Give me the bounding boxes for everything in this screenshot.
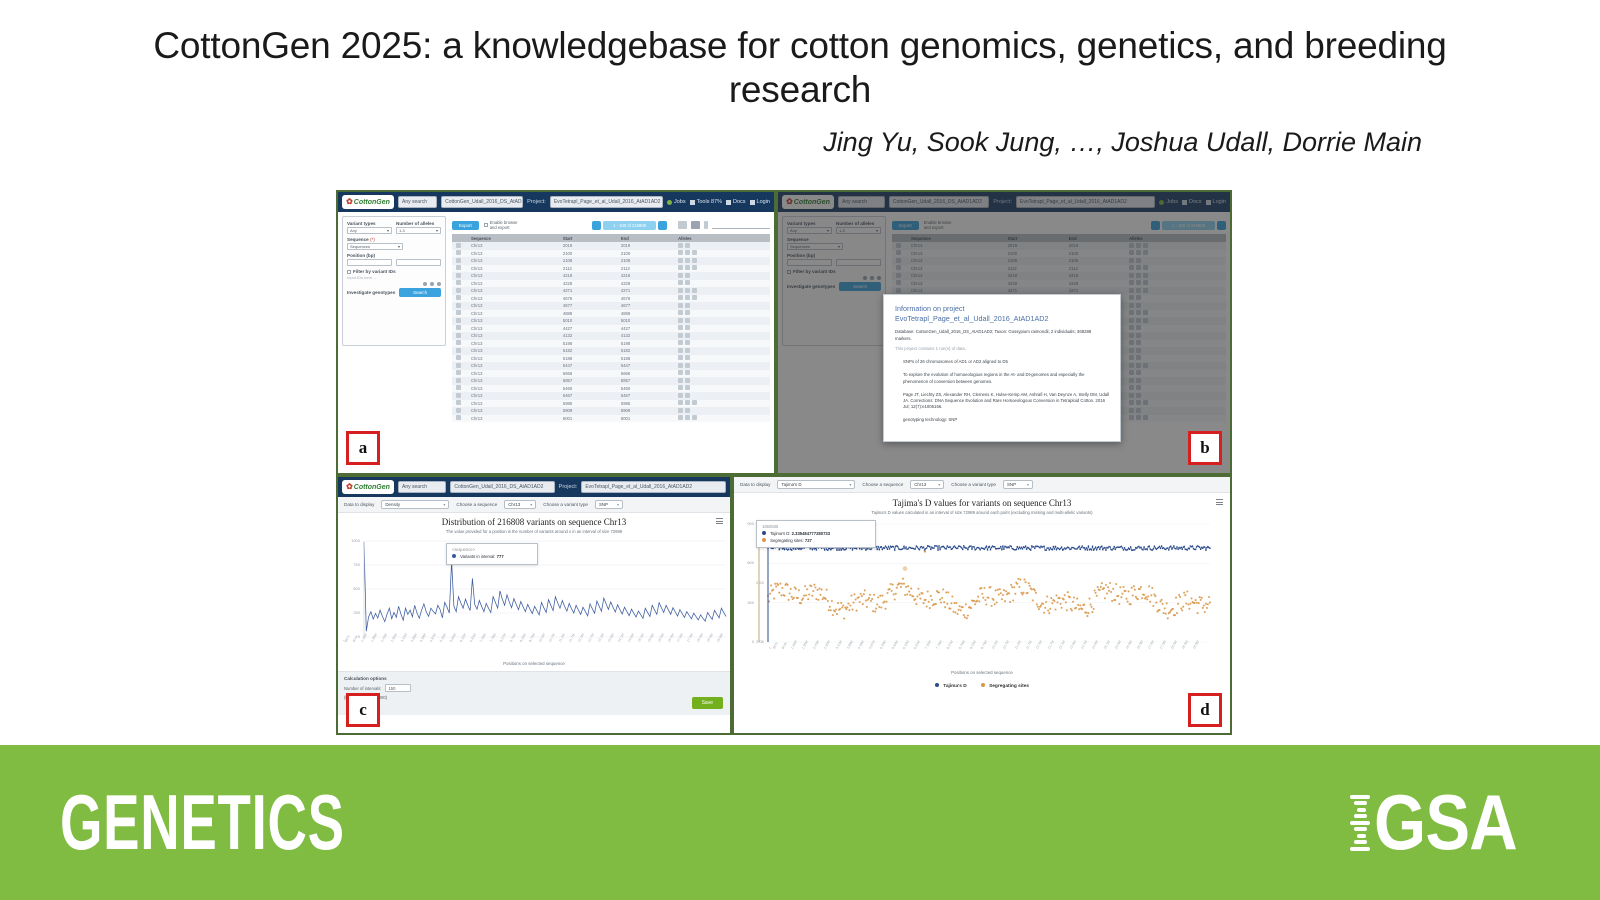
cell-2: 2100 [617,250,674,258]
cell-1: 2112 [559,265,617,273]
cell-2: 5010 [617,317,674,325]
table-row[interactable]: Chr1321002100 [452,250,770,258]
dataset-select[interactable]: CottonGen_Udall_2016_DS_AtAD1AD2 [441,196,523,208]
modal-meta: Database: CottonGen_Udall_2016_DS_AtAD1A… [895,329,1109,341]
cell-0: Chr13 [467,332,559,340]
num-alleles-label: Number of alleles [396,221,441,226]
table-row[interactable]: Chr1320192019 [452,242,770,250]
d-sequence-select[interactable]: Chr13▾ [910,480,944,489]
enable-browse-label: Enable browse and export [490,220,518,231]
table-row[interactable]: Chr1360016001 [452,415,770,423]
col-end[interactable]: End [617,234,674,242]
chart-d-xaxis: 1487k974k1.46M1.95M2.43M2.92M3.41M3.89M4… [734,648,1230,652]
journal-footer-band: GENETICS GSA [0,745,1600,900]
d-select-1-label: Choose a sequence [862,482,903,487]
calc-options-title: Calculation options [344,676,724,681]
table-row[interactable]: Chr1342184218 [452,272,770,280]
cell-1: 5909 [559,407,617,415]
cell-1: 2019 [559,242,617,250]
table-row[interactable]: Chr1321122112 [452,265,770,273]
nav-link-docs[interactable]: Docs [726,199,746,205]
cell-2: 4228 [617,280,674,288]
cottongen-logo[interactable]: ✿ CottonGen [342,480,394,494]
cell-0: Chr13 [467,257,559,265]
panel-label-b: b [1188,431,1222,465]
page-title: CottonGen 2025: a knowledgebase for cott… [150,24,1450,113]
chart-menu-icon[interactable] [1216,498,1223,507]
save-button[interactable]: Save [692,697,723,709]
cell-2: 5198 [617,340,674,348]
required-marker: (*) [370,237,375,242]
cell-0: Chr13 [467,415,559,423]
cell-alleles [674,392,770,400]
cell-alleles [674,242,770,250]
variant-results: Export Enable browse and export 1 - 100 … [450,212,774,475]
chart-d-subtitle: Tajima's D values calculated in an inter… [734,510,1230,515]
pager: 1 - 100 of 216808 [592,221,667,230]
variant-table-body: Chr1320192019Chr1321002100Chr1321082108C… [452,242,770,422]
cell-alleles [674,355,770,363]
help-icon[interactable] [437,282,441,286]
row-check[interactable] [452,407,467,415]
cell-0: Chr13 [467,250,559,258]
cell-2: 4132 [617,332,674,340]
cell-1: 4132 [559,332,617,340]
d-select-0-label: Data to display [740,482,770,487]
calculation-options: Calculation options Number of intervals:… [338,671,730,715]
cell-alleles [674,340,770,348]
cotton-icon: ✿ [346,198,353,206]
modal-title: Information on project EvoTetrapl_Page_e… [895,304,1109,323]
row-check[interactable] [452,257,467,265]
cell-1: 2100 [559,250,617,258]
table-row[interactable]: Chr1351885188 [452,355,770,363]
row-check[interactable] [452,370,467,378]
cell-alleles [674,407,770,415]
cell-2: 4218 [617,272,674,280]
row-check[interactable] [452,355,467,363]
row-check[interactable] [452,377,467,385]
table-row[interactable]: Chr1350105010 [452,317,770,325]
journal-name: GENETICS [60,777,345,868]
cotton-icon: ✿ [346,483,353,491]
project-info-modal: Information on project EvoTetrapl_Page_e… [883,294,1121,442]
series-swatch-segsites [762,538,766,542]
cell-alleles [674,362,770,370]
cell-0: Chr13 [467,385,559,393]
project-value: EvoTetrapl_Page_et_al_Udall_2016_AtAD1AD… [554,199,661,205]
cell-0: Chr13 [467,272,559,280]
col-check [452,234,467,242]
chart-c-toolbar: Data to display Density▾ Choose a sequen… [338,497,730,513]
panel-label-c: c [346,693,380,727]
filter-ids-label: Filter by variant IDs [353,269,396,274]
cell-alleles [674,280,770,288]
modal-para2: To explore the evolution of homoeologous… [895,372,1109,384]
cell-1: 5198 [559,340,617,348]
lock-icon [484,223,488,227]
table-row[interactable]: Chr1346774677 [452,302,770,310]
cell-2: 5666 [617,370,674,378]
panel-b: ✿ CottonGen Any search CottonGen_Udall_2… [776,190,1232,475]
project-select[interactable]: EvoTetrapl_Page_et_al_Udall_2016_AtAD1AD… [581,481,726,493]
any-search-select[interactable]: Any search [398,481,446,493]
logo-text: CottonGen [354,199,390,206]
cell-0: Chr13 [467,325,559,333]
cell-1: 5447 [559,362,617,370]
cell-2: 4888 [617,310,674,318]
dataset-value: CottonGen_Udall_2016_DS_AtAD1AD2 [445,199,523,205]
cell-alleles [674,385,770,393]
cell-2: 5188 [617,355,674,363]
cell-2: 4427 [617,325,674,333]
table-row[interactable]: Chr1342714271 [452,287,770,295]
position-label: Position (bp) [347,253,441,258]
user-icon [750,200,755,205]
row-check[interactable] [452,265,467,273]
chart-menu-icon[interactable] [716,517,723,526]
pager-prev-button[interactable] [592,221,601,230]
panel-label-d: d [1188,693,1222,727]
gsa-logo: GSA [1350,777,1540,868]
table-row[interactable]: Chr1348884888 [452,310,770,318]
col-start[interactable]: Start [559,234,617,242]
project-label: Project: [559,484,578,490]
c-variant-type-select[interactable]: SNP▾ [595,500,623,509]
c-select-0-label: Data to display [344,502,374,507]
cell-2: 5857 [617,377,674,385]
table-row[interactable]: Chr1351985198 [452,340,770,348]
row-check[interactable] [452,280,467,288]
cell-0: Chr13 [467,280,559,288]
legend-item-tajima[interactable]: Tajima's D [935,683,967,689]
cell-1: 4218 [559,272,617,280]
modal-citation: Page JT, Liechty ZS, Alexander RH, Cleme… [895,392,1109,411]
chevron-down-icon: ▾ [617,502,619,507]
filter-ids-checkbox[interactable]: Filter by variant IDs [347,269,441,274]
chevron-down-icon: ▾ [1027,482,1029,487]
cell-alleles [674,272,770,280]
pager-range: 1 - 100 of 216808 [603,221,656,230]
c-sequence-select[interactable]: Chr13▾ [504,500,536,509]
panel-a-body: Variant types Any▾ Number of alleles 1-3… [338,212,774,475]
cell-2: 4676 [617,295,674,303]
nav-link-jobs[interactable]: Jobs [667,199,686,205]
cell-1: 6001 [559,415,617,423]
num-alleles-select[interactable]: 1-3▾ [396,227,441,234]
chart-icon[interactable] [678,221,687,229]
nav-link-login[interactable]: Login [750,199,770,205]
tooltip-row: Variants in interval: 777 [452,554,532,560]
cell-0: Chr13 [467,392,559,400]
chart-c-xlabel: Positions on selected sequence [338,661,730,666]
cell-alleles [674,370,770,378]
project-label: Project: [527,199,546,205]
col-alleles[interactable]: Alleles [674,234,770,242]
col-sequence[interactable]: Sequence [467,234,559,242]
tooltip-row-segsites: Segregating sites: 727 [762,538,870,544]
table-row[interactable]: Chr1341324132 [452,332,770,340]
cell-1: 4677 [559,302,617,310]
table-row[interactable]: Chr1344274427 [452,325,770,333]
cell-1: 5666 [559,370,617,378]
row-check[interactable] [452,340,467,348]
row-check[interactable] [452,287,467,295]
row-check[interactable] [452,302,467,310]
table-row[interactable]: Chr1346764676 [452,295,770,303]
panel-c: ✿ CottonGen Any search CottonGen_Udall_2… [336,475,732,735]
tools-icon [690,200,695,205]
d-data-to-display-select[interactable]: Tajima's D▾ [777,480,855,489]
c-data-to-display-select[interactable]: Density▾ [381,500,449,509]
any-search-select[interactable]: Any search [398,196,437,208]
row-check[interactable] [452,362,467,370]
cottongen-navbar-c: ✿ CottonGen Any search CottonGen_Udall_2… [338,477,730,497]
cell-0: Chr13 [467,302,559,310]
cell-1: 4271 [559,287,617,295]
row-check[interactable] [452,272,467,280]
sequence-select[interactable]: Sequences▾ [347,243,403,250]
c-select-2-label: Choose a variant type [543,502,588,507]
person-icon[interactable] [704,221,708,229]
chevron-down-icon: ▾ [530,502,532,507]
cell-alleles [674,295,770,303]
table-icon[interactable] [691,221,700,229]
cell-1: 5182 [559,347,617,355]
cell-0: Chr13 [467,400,559,408]
any-search-value: Any search [402,199,427,205]
table-row[interactable]: Chr1356665666 [452,370,770,378]
chevron-down-icon: ▾ [398,244,400,249]
cell-1: 4676 [559,295,617,303]
variant-types-label: Variant types [347,221,392,226]
cell-2: 5447 [617,362,674,370]
panel-label-a: a [346,431,380,465]
cell-1: 5467 [559,392,617,400]
search-button[interactable]: Search [399,288,441,297]
cell-2: 6001 [617,415,674,423]
chevron-down-icon: ▾ [938,482,940,487]
cell-alleles [674,317,770,325]
society-name: GSA [1374,777,1517,868]
figure-composite: ✿ CottonGen Any search CottonGen_Udall_2… [336,190,1232,735]
row-check[interactable] [452,385,467,393]
cell-2: 5985 [617,400,674,408]
table-row[interactable]: Chr1321082108 [452,257,770,265]
modal-para1: SNPs of 26 chromosomes of AD1 or AD2 ali… [895,359,1109,365]
cell-0: Chr13 [467,295,559,303]
legend-item-segsites[interactable]: Segregating sites [981,683,1029,689]
chart-c-tooltip: <sequence> Variants in interval: 777 [446,543,538,565]
row-check[interactable] [452,310,467,318]
cell-0: Chr13 [467,242,559,250]
cell-0: Chr13 [467,310,559,318]
table-row[interactable]: Chr1354605460 [452,385,770,393]
table-row[interactable]: Chr1358575857 [452,377,770,385]
toolbar-icons [678,221,770,229]
cell-alleles [674,377,770,385]
legend-dot-icon [981,683,985,687]
cottongen-logo[interactable]: ✿ CottonGen [342,195,394,209]
chart-c-title: Distribution of 216808 variants on seque… [338,517,730,527]
cell-1: 4427 [559,325,617,333]
row-check[interactable] [452,400,467,408]
cell-alleles [674,250,770,258]
modal-runs: This project contains 1 run(s) of data. [895,346,1109,352]
title-block: CottonGen 2025: a knowledgebase for cott… [0,0,1600,158]
chart-d-area: Tajima's D values for variants on sequen… [734,493,1230,693]
cell-1: 5985 [559,400,617,408]
legend-dot-icon [935,683,939,687]
chart-c-xaxis: 1487k974k1.46M1.95M2.43M2.92M3.41M3.89M4… [338,641,730,645]
cell-0: Chr13 [467,347,559,355]
c-select-1-label: Choose a sequence [456,502,497,507]
cell-0: Chr13 [467,370,559,378]
cell-alleles [674,347,770,355]
cell-1: 5460 [559,385,617,393]
form-icon-row [347,282,441,286]
investigate-label: Investigate genotypes [347,290,395,295]
cell-alleles [674,325,770,333]
export-button[interactable]: Export [452,221,479,230]
chart-d-xlabel: Positions on selected sequence [734,670,1230,675]
nav-link-tools[interactable]: Tools 87% [690,199,722,205]
cell-0: Chr13 [467,287,559,295]
num-alleles-field: Number of alleles 1-3▾ [396,221,441,234]
cell-0: Chr13 [467,377,559,385]
modal-title-line1: Information on project [895,304,1109,314]
upload-icon[interactable] [423,282,427,286]
series-swatch [452,554,456,558]
cell-0: Chr13 [467,407,559,415]
row-check[interactable] [452,250,467,258]
cell-1: 5188 [559,355,617,363]
cottongen-navbar: ✿ CottonGen Any search CottonGen_Udall_2… [338,192,774,212]
cell-0: Chr13 [467,265,559,273]
series-swatch-tajima [762,531,766,535]
table-row[interactable]: Chr1359095909 [452,407,770,415]
panel-d: Data to display Tajima's D▾ Choose a seq… [732,475,1232,735]
jobs-icon [667,200,672,205]
d-variant-type-select[interactable]: SNP▾ [1003,480,1033,489]
table-row[interactable]: Chr1359855985 [452,400,770,408]
row-check[interactable] [452,347,467,355]
cell-1: 4888 [559,310,617,318]
table-row[interactable]: Chr1354675467 [452,392,770,400]
d-select-2-label: Choose a variant type [951,482,996,487]
cell-1: 2108 [559,257,617,265]
cell-1: 5857 [559,377,617,385]
cell-alleles [674,265,770,273]
modal-tech: genotyping technology: SNP [895,417,1109,423]
dna-helix-icon [1350,795,1370,851]
dataset-select[interactable]: CottonGen_Udall_2016_DS_AtAD1AD2 [450,481,554,493]
position-from-input[interactable] [347,259,392,266]
author-list: Jing Yu, Sook Jung, …, Joshua Udall, Dor… [150,127,1450,158]
row-check[interactable] [452,317,467,325]
download-icon[interactable] [430,282,434,286]
cell-alleles [674,400,770,408]
intervals-input[interactable]: 150 [385,684,411,692]
chart-d-toolbar: Data to display Tajima's D▾ Choose a seq… [734,477,1230,493]
tooltip-head: 1650835 [762,524,870,530]
table-row[interactable]: Chr1351825182 [452,347,770,355]
results-toolbar: Export Enable browse and export 1 - 100 … [452,216,770,234]
sequence-label: Sequence (*) [347,237,441,242]
cell-alleles [674,332,770,340]
cell-0: Chr13 [467,317,559,325]
row-check[interactable] [452,242,467,250]
cell-2: 5467 [617,392,674,400]
row-check[interactable] [452,415,467,423]
cell-2: 5182 [617,347,674,355]
cell-alleles [674,257,770,265]
cell-2: 4677 [617,302,674,310]
row-check[interactable] [452,325,467,333]
variant-search-form: Variant types Any▾ Number of alleles 1-3… [342,216,446,346]
cell-2: 5909 [617,407,674,415]
cell-alleles [674,415,770,423]
chart-d-legend: Tajima's D Segregating sites [734,683,1230,689]
chevron-down-icon: ▾ [387,228,389,233]
pager-next-button[interactable] [658,221,667,230]
row-check[interactable] [452,295,467,303]
table-row[interactable]: Chr1354475447 [452,362,770,370]
row-check[interactable] [452,392,467,400]
chart-d-title: Tajima's D values for variants on sequen… [734,498,1230,508]
cell-2: 2112 [617,265,674,273]
cell-2: 4271 [617,287,674,295]
row-check[interactable] [452,332,467,340]
variant-types-field: Variant types Any▾ [347,221,392,234]
checkbox-icon [347,270,351,274]
position-to-input[interactable] [396,259,441,266]
chart-d-tooltip: 1650835 Tajima's D: 2.335484777280733 Se… [756,520,876,548]
cell-alleles [674,287,770,295]
cell-1: 5010 [559,317,617,325]
chevron-down-icon: ▾ [849,482,851,487]
intervals-label: Number of intervals: [344,686,381,691]
table-header-row: Sequence Start End Alleles [452,234,770,242]
cell-1: 4228 [559,280,617,288]
cell-alleles [674,310,770,318]
chart-c-area: Distribution of 216808 variants on seque… [338,513,730,671]
cell-2: 5460 [617,385,674,393]
filter-ids-input[interactable]: Input IDs here… [347,275,441,280]
search-input[interactable] [712,221,770,229]
chevron-down-icon: ▾ [436,228,438,233]
logo-text: CottonGen [354,484,390,491]
chevron-down-icon: ▾ [443,502,445,507]
table-row[interactable]: Chr1342284228 [452,280,770,288]
cell-0: Chr13 [467,340,559,348]
tooltip-head: <sequence> [452,547,532,553]
variant-table: Sequence Start End Alleles Chr1320192019… [452,234,770,422]
cell-alleles [674,302,770,310]
docs-icon [726,200,731,205]
cell-2: 2019 [617,242,674,250]
modal-title-line2: EvoTetrapl_Page_et_al_Udall_2016_AtAD1AD… [895,314,1109,324]
cell-0: Chr13 [467,362,559,370]
project-select[interactable]: EvoTetrapl_Page_et_al_Udall_2016_AtAD1AD… [550,196,663,208]
variant-types-select[interactable]: Any▾ [347,227,392,234]
chart-c-subtitle: The value provided for a position is the… [338,529,730,534]
cell-0: Chr13 [467,355,559,363]
panel-a: ✿ CottonGen Any search CottonGen_Udall_2… [336,190,776,475]
cell-2: 2108 [617,257,674,265]
